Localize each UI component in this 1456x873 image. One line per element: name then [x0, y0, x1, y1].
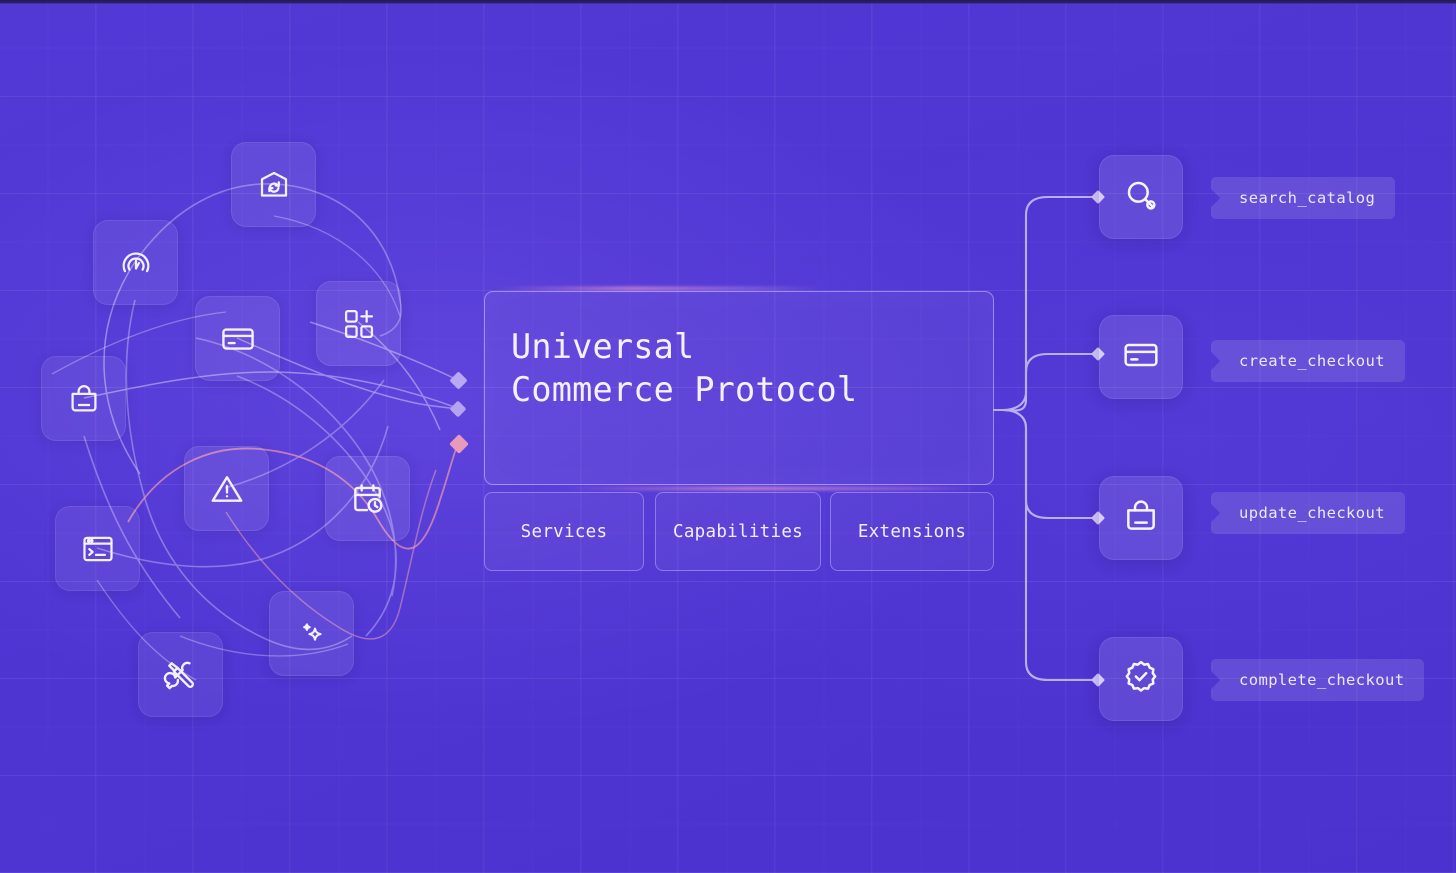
shopping-bag-icon: [1121, 496, 1161, 540]
verified-check-icon: [1121, 657, 1161, 701]
diagram-canvas: Universal Commerce Protocol Services Cap…: [0, 0, 1456, 873]
node-label-update-checkout[interactable]: update_checkout: [1211, 492, 1405, 534]
magnifier-icon: [1121, 175, 1161, 219]
node-tile-create-checkout[interactable]: [1099, 315, 1183, 399]
node-tile-update-checkout[interactable]: [1099, 476, 1183, 560]
node-label-search-catalog[interactable]: search_catalog: [1211, 177, 1395, 219]
node-tile-search-catalog[interactable]: [1099, 155, 1183, 239]
node-label-complete-checkout[interactable]: complete_checkout: [1211, 659, 1424, 701]
node-label-text: create_checkout: [1239, 352, 1385, 370]
node-label-text: search_catalog: [1239, 189, 1375, 207]
node-label-text: update_checkout: [1239, 504, 1385, 522]
credit-card-icon: [1121, 335, 1161, 379]
node-label-text: complete_checkout: [1239, 671, 1404, 689]
node-entry-markers: [1091, 190, 1105, 687]
node-label-create-checkout[interactable]: create_checkout: [1211, 340, 1405, 382]
node-connector-lines: [0, 0, 1456, 873]
node-tile-complete-checkout[interactable]: [1099, 637, 1183, 721]
